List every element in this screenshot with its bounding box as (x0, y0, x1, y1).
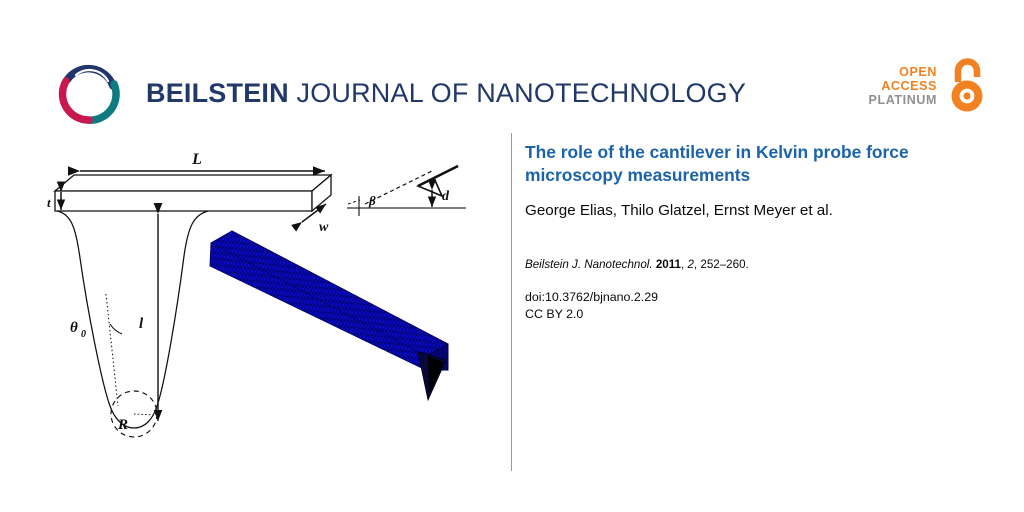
fem-mesh-cantilever (210, 231, 448, 400)
tilt-angle-inset: β d (347, 166, 466, 216)
wordmark-regular: JOURNAL OF NANOTECHNOLOGY (289, 78, 746, 108)
column-divider (511, 133, 512, 471)
beilstein-circle-logo-icon (52, 55, 128, 131)
article-doi[interactable]: doi:10.3762/bjnano.2.29 (525, 290, 658, 304)
article-title: The role of the cantilever in Kelvin pro… (525, 141, 950, 187)
label-distance: d (442, 189, 450, 204)
open-access-line1: OPEN (899, 65, 937, 79)
label-tilt-angle: β (368, 193, 376, 208)
label-tip-radius: R (117, 417, 128, 433)
article-info-column: The role of the cantilever in Kelvin pro… (525, 141, 950, 323)
article-license[interactable]: CC BY 2.0 (525, 307, 583, 321)
open-access-badge[interactable]: OPEN ACCESS PLATINUM (869, 58, 990, 114)
open-access-line3: PLATINUM (869, 93, 937, 107)
open-padlock-icon (944, 58, 990, 114)
journal-logo-block[interactable]: BEILSTEIN JOURNAL OF NANOTECHNOLOGY (52, 55, 746, 131)
label-half-angle-subscript: 0 (81, 329, 86, 340)
label-half-angle: θ (70, 320, 78, 336)
article-cover-page: BEILSTEIN JOURNAL OF NANOTECHNOLOGY OPEN… (0, 0, 1024, 512)
label-length: L (191, 151, 202, 168)
article-authors: George Elias, Thilo Glatzel, Ernst Meyer… (525, 201, 950, 221)
article-citation: Beilstein J. Nanotechnol. 2011, 2, 252–2… (525, 257, 950, 273)
cantilever-beam-diagram: L t w (47, 151, 331, 235)
wordmark-bold: BEILSTEIN (146, 78, 289, 108)
label-thickness: t (47, 195, 51, 210)
half-angle-arc (110, 324, 122, 334)
tip-axis-dotted (106, 294, 118, 406)
citation-pages: 252–260. (700, 258, 748, 271)
cantilever-schematic-svg: L t w θ 0 l R (14, 138, 494, 463)
citation-year: 2011 (656, 258, 681, 271)
journal-wordmark: BEILSTEIN JOURNAL OF NANOTECHNOLOGY (146, 80, 746, 107)
open-access-line2: ACCESS (881, 79, 937, 93)
tip-profile-drawing (57, 211, 208, 428)
open-access-label: OPEN ACCESS PLATINUM (869, 65, 937, 107)
cover-figure: L t w θ 0 l R (14, 138, 494, 463)
citation-sep2: , (694, 258, 697, 271)
label-tip-length: l (139, 316, 144, 332)
citation-journal: Beilstein J. Nanotechnol. (525, 258, 653, 271)
citation-sep1: , (681, 258, 684, 271)
page-header: BEILSTEIN JOURNAL OF NANOTECHNOLOGY OPEN… (0, 0, 1024, 140)
label-width: w (319, 220, 329, 235)
doi-and-license: doi:10.3762/bjnano.2.29 CC BY 2.0 (525, 289, 950, 323)
